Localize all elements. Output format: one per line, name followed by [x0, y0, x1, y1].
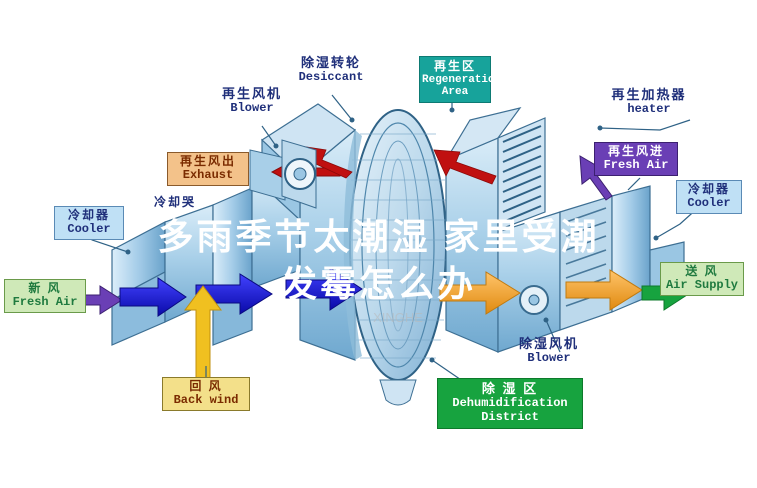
label-exhaust-en: Exhaust [170, 169, 246, 183]
label-regeneration-heater: 再生加热器 heater [603, 88, 695, 117]
label-exhaust-zh: 再生风出 [170, 155, 246, 169]
label-regeneration-blower: 再生风机 Blower [213, 87, 291, 116]
label-regeneration-heater-zh: 再生加热器 [603, 88, 695, 103]
label-regeneration-area: 再生区 Regeneration Area [419, 56, 491, 103]
overlay-title-line1: 多雨季节太潮湿 家里受潮 [0, 208, 757, 260]
label-regen-fresh-air: 再生风进 Fresh Air [594, 142, 678, 176]
label-dehumidification-district: 除 湿 区 Dehumidification District [437, 378, 583, 429]
label-back-wind-zh: 回 风 [165, 380, 247, 394]
regeneration-blower-graphic [282, 140, 316, 208]
label-regeneration-area-zh: 再生区 [422, 60, 488, 74]
label-back-wind: 回 风 Back wind [162, 377, 250, 411]
label-dehumidification-blower-zh: 除湿风机 [506, 337, 592, 352]
label-dehumidification-blower: 除湿风机 Blower [506, 337, 592, 366]
label-regeneration-blower-zh: 再生风机 [213, 87, 291, 102]
label-desiccant-wheel: 除湿转轮 Desiccant [285, 56, 377, 85]
label-regeneration-heater-en: heater [603, 103, 695, 117]
label-desiccant-wheel-zh: 除湿转轮 [285, 56, 377, 71]
label-dehumidification-district-zh: 除 湿 区 [440, 382, 580, 397]
dehumidifier-diagram: XINGHE 除湿转轮 Desiccant 再生区 Regeneration A… [0, 0, 757, 488]
label-regeneration-blower-en: Blower [213, 102, 291, 116]
label-exhaust: 再生风出 Exhaust [167, 152, 249, 186]
label-regen-fresh-air-zh: 再生风进 [597, 145, 675, 159]
label-dehumidification-blower-en: Blower [506, 352, 592, 366]
label-cooler-right-zh: 冷却器 [679, 183, 739, 197]
label-regeneration-area-en: Regeneration Area [422, 74, 488, 99]
overlay-title-line2: 发霉怎么办 [0, 255, 757, 307]
label-regen-fresh-air-en: Fresh Air [597, 159, 675, 173]
watermark-text: XINGHE [373, 310, 423, 325]
label-dehumidification-district-en: Dehumidification District [440, 397, 580, 425]
label-desiccant-wheel-en: Desiccant [285, 71, 377, 85]
label-back-wind-en: Back wind [165, 394, 247, 408]
